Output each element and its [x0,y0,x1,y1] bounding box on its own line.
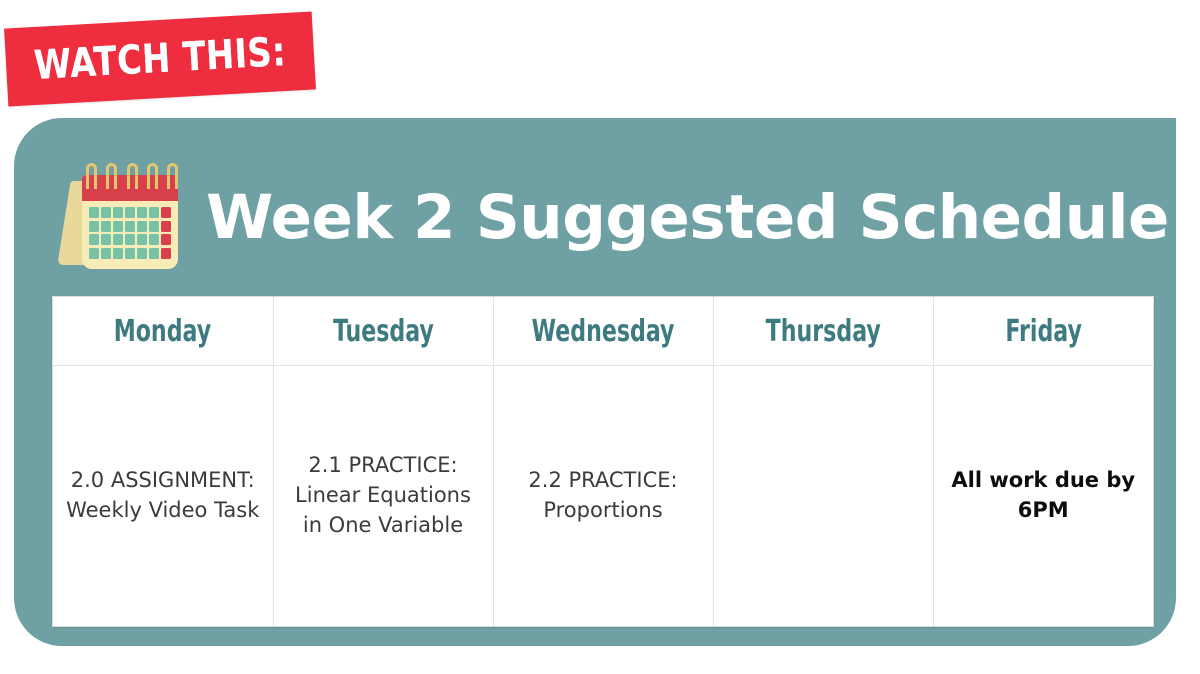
table-header-row: Monday Tuesday Wednesday Thursday Friday [53,297,1153,366]
calendar-grid [89,207,171,259]
column-header-label: Thursday [765,314,880,349]
calendar-icon [60,159,188,275]
calendar-rings [86,163,178,193]
calendar-ring [86,163,97,189]
cell-wednesday: 2.2 PRACTICE: Proportions [493,366,713,627]
column-header-label: Tuesday [333,314,434,349]
cell-tuesday: 2.1 PRACTICE: Linear Equations in One Va… [273,366,493,627]
column-header-label: Monday [114,314,211,349]
column-header-label: Wednesday [532,314,675,349]
schedule-table: Monday Tuesday Wednesday Thursday Friday… [52,296,1154,627]
cell-monday: 2.0 ASSIGNMENT: Weekly Video Task [53,366,273,627]
watch-this-banner: WATCH THIS: [4,11,316,106]
cell-thursday [713,366,933,627]
column-header-wednesday: Wednesday [493,297,713,366]
column-header-monday: Monday [53,297,273,366]
watch-this-label: WATCH THIS: [30,32,291,86]
calendar-ring [127,163,138,189]
cell-friday: All work due by 6PM [933,366,1153,627]
panel-header: Week 2 Suggested Schedule [60,142,1162,292]
calendar-ring [167,163,178,189]
column-header-tuesday: Tuesday [273,297,493,366]
calendar-ring [147,163,158,189]
schedule-panel: Week 2 Suggested Schedule Monday Tuesday… [14,118,1176,646]
column-header-label: Friday [1005,314,1081,349]
table-row: 2.0 ASSIGNMENT: Weekly Video Task 2.1 PR… [53,366,1153,627]
calendar-ring [106,163,117,189]
column-header-thursday: Thursday [713,297,933,366]
column-header-friday: Friday [933,297,1153,366]
page-title: Week 2 Suggested Schedule [206,187,1169,248]
